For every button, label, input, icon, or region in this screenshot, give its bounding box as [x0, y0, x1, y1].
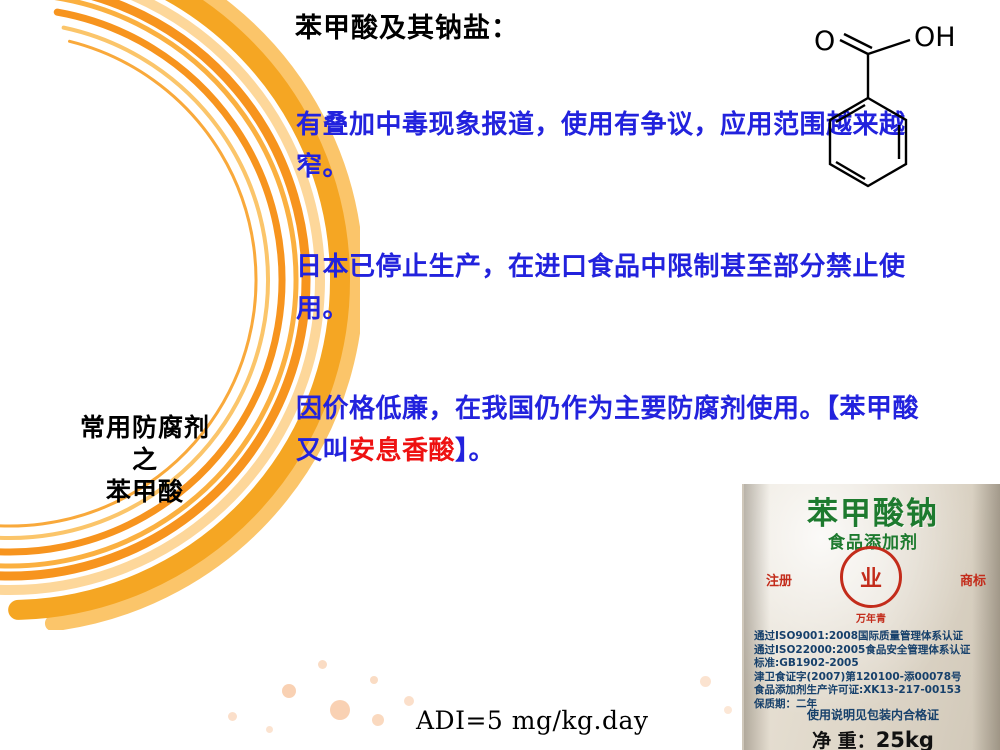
decorative-dot [228, 712, 237, 721]
spec-line: 通过ISO9001:2008国际质量管理体系认证 [754, 630, 994, 644]
paragraph-3-part-2: 】。 [455, 436, 495, 466]
spec-line: 标准:GB1902-2005 [754, 657, 994, 671]
decorative-dot [318, 660, 327, 669]
benzoic-acid-svg: O OH [810, 6, 990, 216]
hydroxyl-label: OH [914, 22, 956, 53]
net-weight-value: 25kg [876, 728, 934, 750]
paragraph-3-highlight: 安息香酸 [349, 436, 455, 466]
net-weight: 净 重：25kg [744, 726, 1000, 750]
decorative-dot [282, 684, 296, 698]
trademark-right-label: 商标 [960, 570, 986, 589]
spec-line: 通过ISO22000:2005食品安全管理体系认证 [754, 644, 994, 658]
left-caption: 常用防腐剂 之 苯甲酸 [10, 412, 280, 508]
brand-logo-text: 业 [860, 561, 882, 593]
net-weight-label: 净 重： [812, 730, 876, 750]
brand-logo-icon: 业 [840, 546, 902, 608]
decorative-dot [700, 676, 711, 687]
decorative-dot [724, 706, 732, 714]
left-caption-line-1: 常用防腐剂 [10, 412, 280, 444]
spec-line: 食品添加剂生产许可证:XK13-217-00153 [754, 684, 994, 698]
left-caption-line-3: 苯甲酸 [10, 476, 280, 508]
benzoic-acid-structure-icon: O OH [810, 6, 990, 216]
decorative-dot [266, 726, 273, 733]
body-paragraph-2: 日本已停止生产，在进口食品中限制甚至部分禁止使用。 [296, 246, 936, 330]
oxygen-label: O [814, 26, 835, 57]
slide-canvas: 常用防腐剂 之 苯甲酸 苯甲酸及其钠盐： 有叠加中毒现象报道，使用有争议，应用范… [0, 0, 1000, 750]
certificate-note: 使用说明见包装内合格证 [744, 706, 1000, 723]
product-spec-lines: 通过ISO9001:2008国际质量管理体系认证 通过ISO22000:2005… [754, 630, 994, 711]
decorative-dot [372, 714, 384, 726]
adi-value: ADI=5 mg/kg.day [416, 706, 649, 735]
decorative-dot [330, 700, 350, 720]
brand-name-label: 万年青 [836, 610, 906, 625]
decorative-dot [404, 696, 414, 706]
product-photo: 苯甲酸钠 食品添加剂 注册 商标 业 万年青 通过ISO9001:2008国际质… [742, 484, 1000, 750]
decorative-dot [370, 676, 378, 684]
left-caption-line-2: 之 [10, 444, 280, 476]
spec-line: 津卫食证字(2007)第120100-添00078号 [754, 671, 994, 685]
page-title: 苯甲酸及其钠盐： [295, 6, 519, 45]
trademark-left-label: 注册 [766, 570, 792, 589]
body-paragraph-3: 因价格低廉，在我国仍作为主要防腐剂使用。【苯甲酸又叫安息香酸】。 [296, 388, 936, 472]
product-name: 苯甲酸钠 [744, 488, 1000, 533]
